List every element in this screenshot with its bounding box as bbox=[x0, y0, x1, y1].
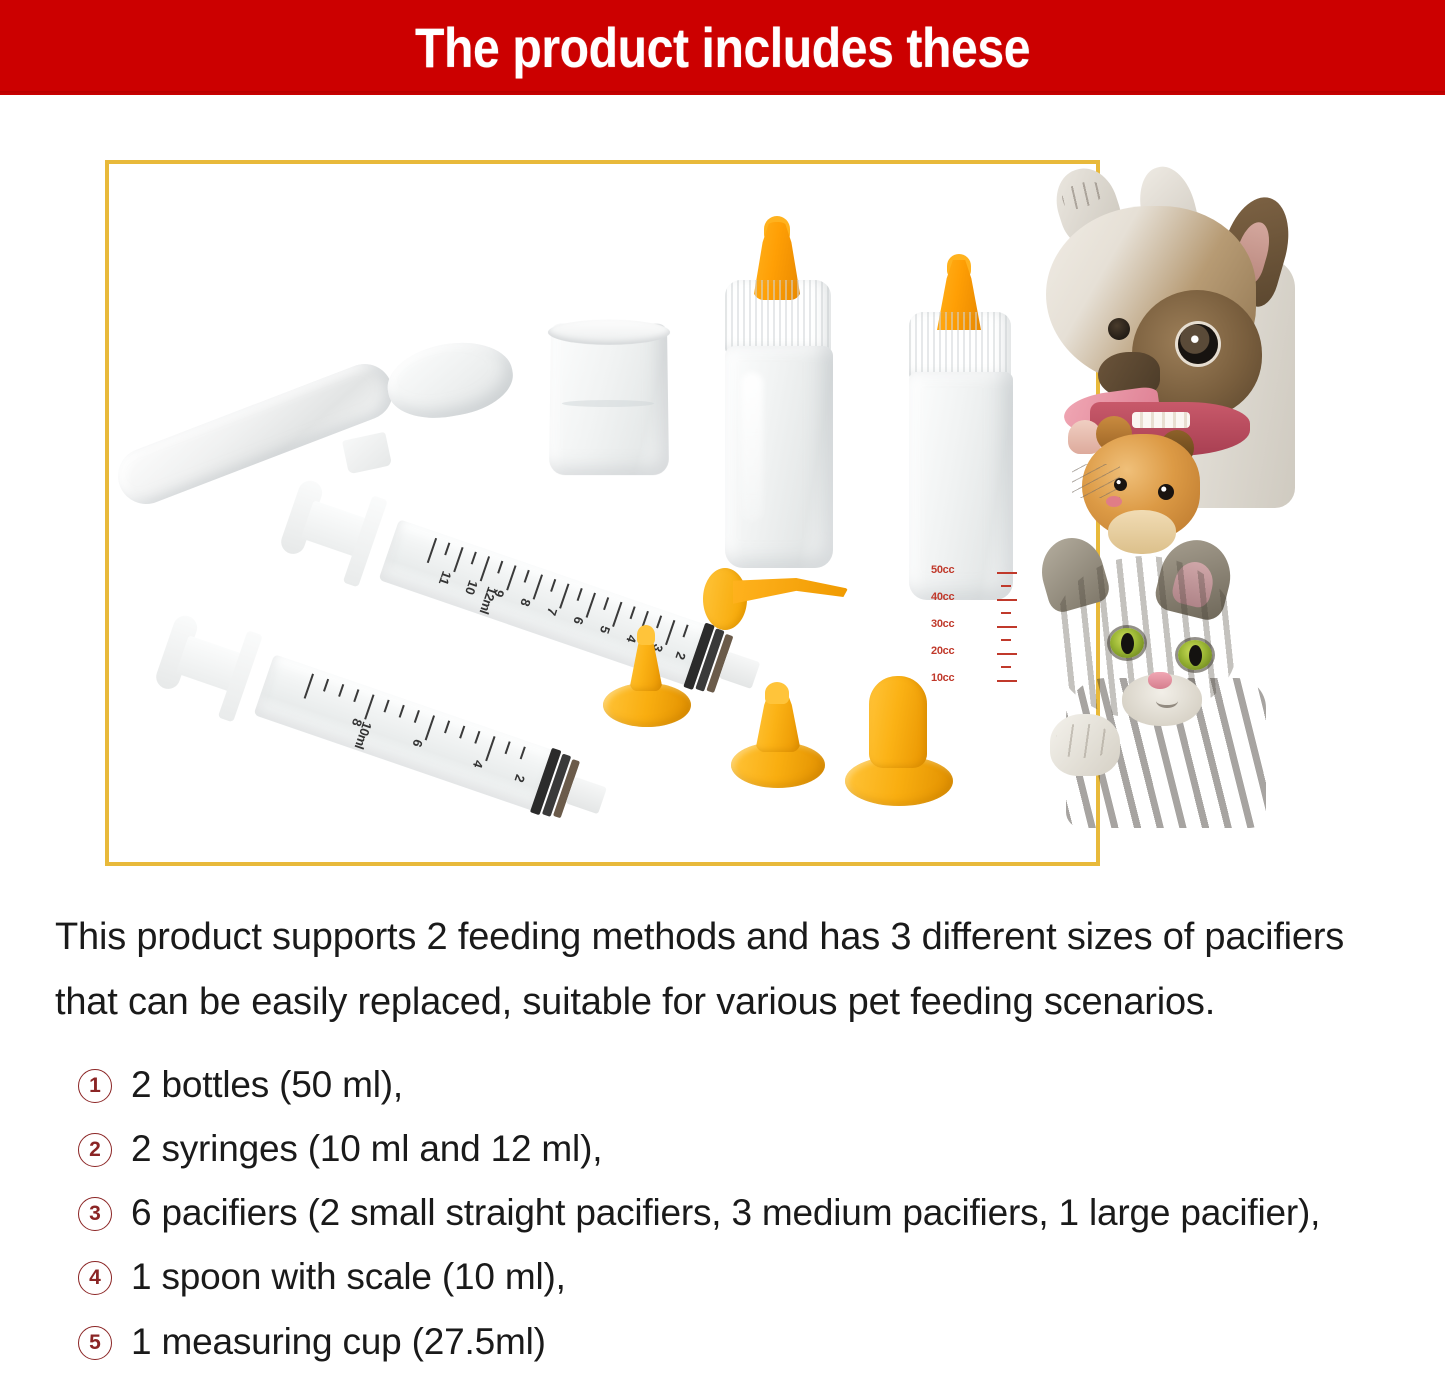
product-photo: 50cc 40cc 30cc bbox=[105, 160, 1100, 866]
bottle-body: 50cc 40cc 30cc bbox=[909, 372, 1013, 600]
list-item-number: 4 bbox=[78, 1261, 112, 1295]
measuring-cup bbox=[549, 324, 669, 476]
bottle-cap bbox=[909, 312, 1011, 380]
product-items-stage: 50cc 40cc 30cc bbox=[105, 160, 1100, 866]
pacifier-tip bbox=[637, 625, 655, 645]
pacifier-curved-on-syringe bbox=[703, 558, 853, 648]
syringe-tick-4: 4 bbox=[470, 758, 487, 770]
hamster-eye-right bbox=[1158, 484, 1174, 500]
list-item-label: 1 measuring cup (27.5ml) bbox=[131, 1319, 546, 1364]
syringe-tick-2: 2 bbox=[511, 773, 528, 785]
pacifier-small-straight bbox=[603, 625, 693, 730]
list-item-number: 2 bbox=[78, 1133, 112, 1167]
syringe-tick-6: 6 bbox=[409, 737, 426, 749]
pacifier-medium bbox=[731, 680, 827, 792]
feeding-bottle-plain bbox=[713, 222, 843, 566]
feeding-bottle-with-scale: 50cc 40cc 30cc bbox=[895, 260, 1025, 600]
list-item-number: 5 bbox=[78, 1326, 112, 1360]
contents-list: 1 2 bottles (50 ml), 2 2 syringes (10 ml… bbox=[78, 1062, 1428, 1383]
list-item-label: 1 spoon with scale (10 ml), bbox=[131, 1254, 566, 1299]
syringe-tip bbox=[566, 777, 607, 815]
list-item: 2 2 syringes (10 ml and 12 ml), bbox=[78, 1126, 1428, 1171]
hamster-nose bbox=[1106, 496, 1122, 507]
cat-eye-right bbox=[1178, 640, 1212, 670]
cat-pupil bbox=[1121, 633, 1134, 654]
pacifier-tip bbox=[765, 682, 789, 704]
spoon-bowl bbox=[382, 334, 519, 427]
cat-eye-left bbox=[1110, 628, 1144, 658]
tabby-kitten bbox=[1020, 538, 1300, 828]
list-item: 5 1 measuring cup (27.5ml) bbox=[78, 1319, 1428, 1364]
bottle-highlight bbox=[741, 372, 763, 522]
syringe-tick-6: 6 bbox=[570, 615, 587, 627]
list-item: 4 1 spoon with scale (10 ml), bbox=[78, 1254, 1428, 1299]
measuring-cup-rim bbox=[548, 320, 670, 345]
bottle-cap bbox=[725, 280, 831, 354]
dog-eye-right bbox=[1178, 324, 1218, 364]
cat-paw bbox=[1050, 714, 1120, 776]
header-banner: The product includes these bbox=[0, 0, 1445, 95]
list-item: 3 6 pacifiers (2 small straight pacifier… bbox=[78, 1190, 1428, 1235]
cat-mouth bbox=[1156, 694, 1178, 708]
dog-eye-left bbox=[1108, 318, 1130, 340]
cat-nose bbox=[1148, 672, 1172, 689]
syringe-tick-8: 8 bbox=[349, 717, 366, 729]
cat-pupil bbox=[1189, 645, 1202, 666]
list-item-label: 2 bottles (50 ml), bbox=[131, 1062, 403, 1107]
list-item-label: 6 pacifiers (2 small straight pacifiers,… bbox=[131, 1190, 1320, 1235]
syringe-tick-9: 9 bbox=[491, 587, 508, 599]
hamster-eye-left bbox=[1114, 478, 1127, 491]
page-title: The product includes these bbox=[415, 15, 1030, 80]
hamster-head bbox=[1082, 434, 1200, 540]
scale-label-20cc: 20cc bbox=[931, 645, 954, 657]
cat-head bbox=[1052, 556, 1238, 718]
description-paragraph: This product supports 2 feeding methods … bbox=[55, 905, 1405, 1036]
list-item-label: 2 syringes (10 ml and 12 ml), bbox=[131, 1126, 602, 1171]
scale-label-30cc: 30cc bbox=[931, 618, 954, 630]
spoon-tab bbox=[342, 432, 392, 474]
dog-head bbox=[1046, 206, 1256, 386]
list-item-number: 3 bbox=[78, 1197, 112, 1231]
pet-photo-group bbox=[1010, 148, 1300, 828]
pacifier-curved-arm bbox=[733, 578, 848, 606]
product-infographic: The product includes these bbox=[0, 0, 1445, 1387]
measuring-cup-line bbox=[562, 400, 654, 407]
list-item-number: 1 bbox=[78, 1069, 112, 1103]
syringe-tick-7: 7 bbox=[544, 606, 561, 618]
hamster-whiskers bbox=[1072, 464, 1120, 498]
syringe-tick-10: 10 bbox=[462, 578, 481, 597]
pacifier-large bbox=[845, 670, 955, 810]
scale-label-50cc: 50cc bbox=[931, 564, 954, 576]
list-item: 1 2 bottles (50 ml), bbox=[78, 1062, 1428, 1107]
syringe-tick-11: 11 bbox=[436, 569, 455, 587]
syringe-tick-8: 8 bbox=[517, 597, 534, 609]
scale-label-40cc: 40cc bbox=[931, 591, 954, 603]
pacifier-stem bbox=[869, 676, 927, 768]
